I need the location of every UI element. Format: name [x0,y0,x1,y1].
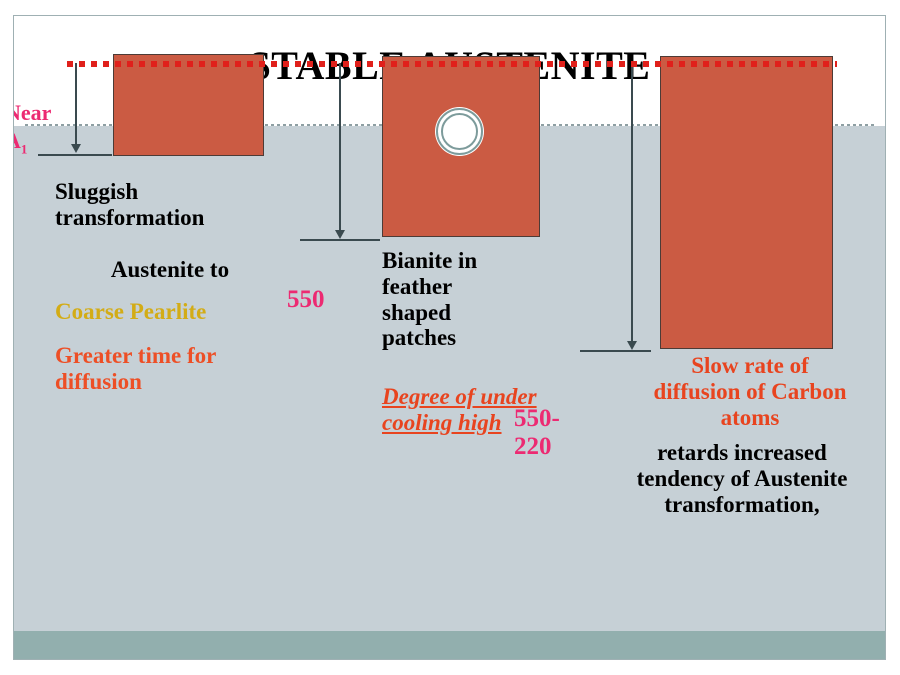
text-slow-rate-of-diffusion: Slow rate of diffusion of Carbon atoms [650,353,850,430]
text-austenite-to: Austenite to [55,257,285,283]
circle-ring-icon [431,103,488,160]
temperature-label-column-1-main: Near [13,100,51,125]
temperature-label-column-3-line1: 550- [514,405,560,432]
temperature-label-column-1-base: A [13,128,21,153]
text-coarse-pearlite: Coarse Pearlite [55,299,285,325]
arrow-baseline-3 [580,350,651,352]
arrow-baseline-2 [300,239,380,241]
bar-column-3 [660,56,833,349]
text-retards-increased-tendency: retards increased tendency of Austenite … [617,440,867,517]
down-arrow-head-3 [627,341,637,350]
slide-canvas: STABLE AUSTENITE Near A1 Sluggish transf… [13,15,886,660]
temperature-label-column-2: 550 [287,286,325,314]
down-arrow-shaft-3 [631,63,633,344]
circle-ring-inner [441,113,478,150]
dotted-reference-line-icon [67,61,837,67]
text-sluggish-transformation: Sluggish transformation [55,179,285,231]
text-greater-time-for-diffusion: Greater time for diffusion [55,343,265,395]
down-arrow-head-2 [335,230,345,239]
temperature-label-column-1-subscript: 1 [21,141,28,156]
temperature-label-column-1: Near A1 [13,99,85,157]
bottom-accent-bar [14,631,885,660]
bar-column-1 [113,54,264,156]
text-bianite-feather-patches: Bianite in feather shaped patches [382,248,507,351]
temperature-label-column-3: 550- 220 [514,405,584,460]
down-arrow-shaft-2 [339,63,341,233]
temperature-label-column-3-line2: 220 [514,433,552,460]
